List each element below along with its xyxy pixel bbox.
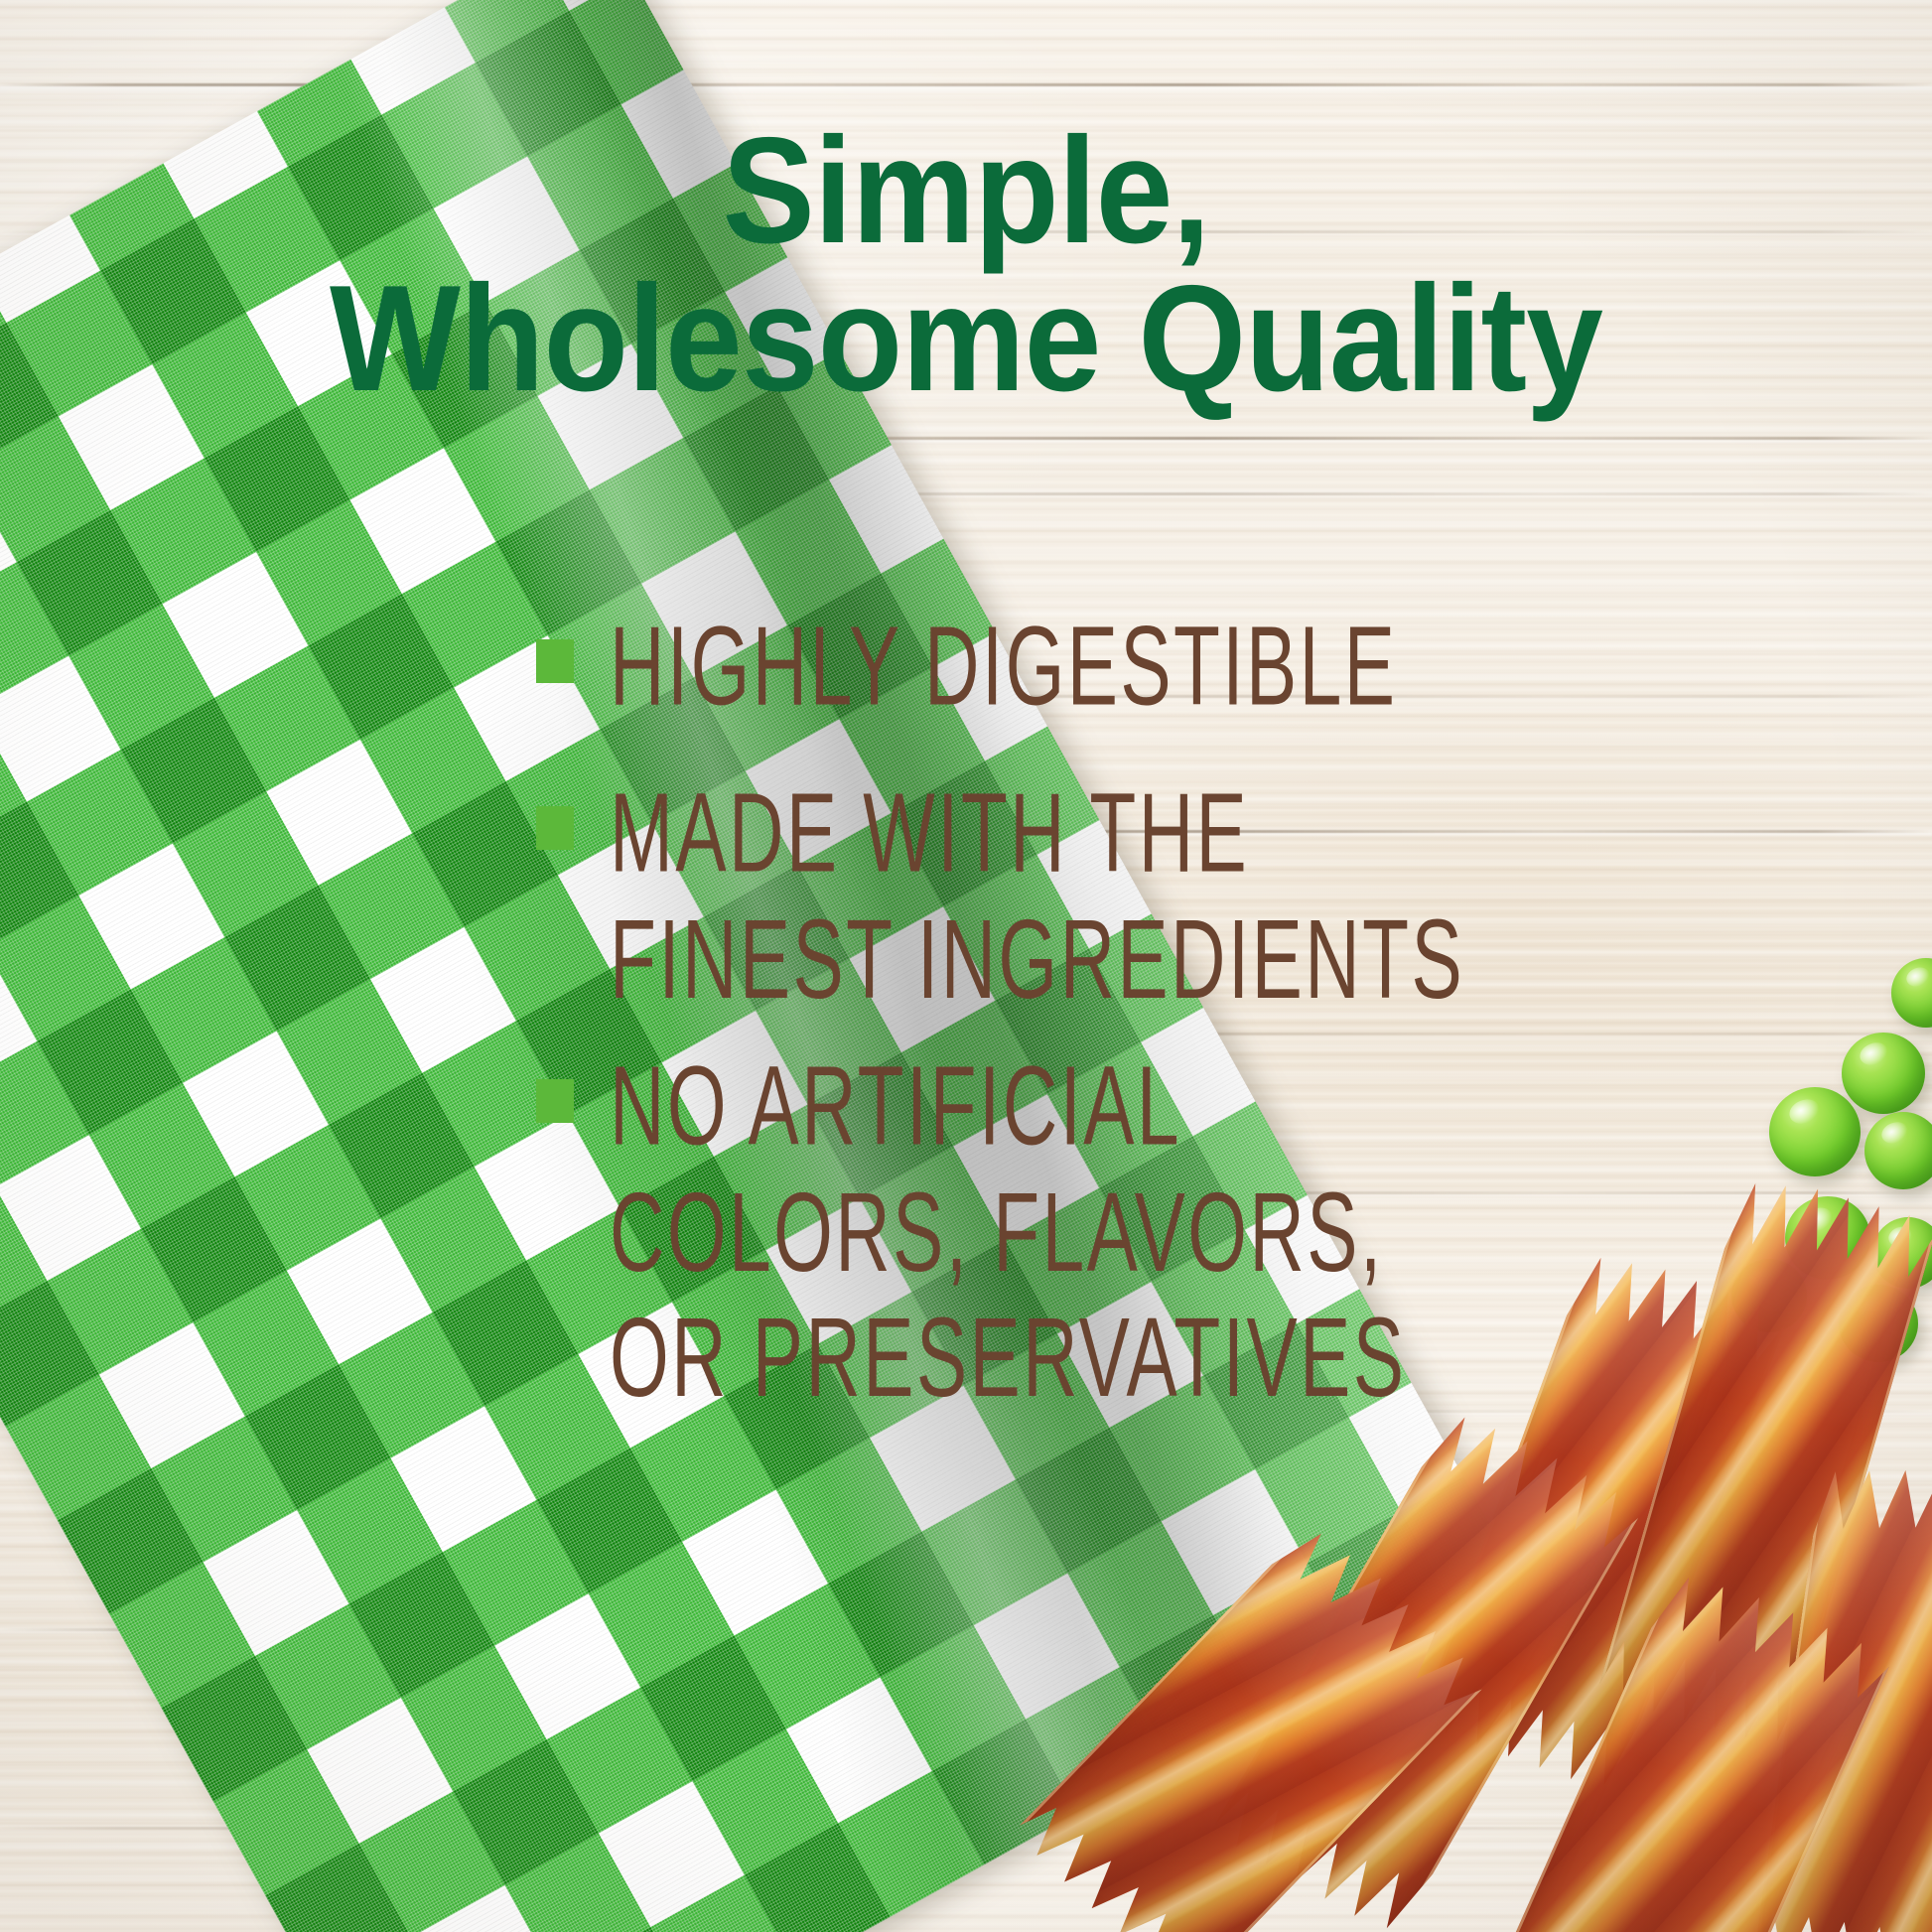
list-item-label: MADE WITH THE FINEST INGREDIENTS [610,770,1464,1023]
pea [1864,1112,1932,1189]
poster-canvas: Simple, Wholesome Quality HIGHLY DIGESTI… [0,0,1932,1932]
bullet-square-icon [536,806,574,850]
list-item-label: HIGHLY DIGESTIBLE [610,604,1397,730]
pea [1769,1087,1861,1176]
feature-list: HIGHLY DIGESTIBLE MADE WITH THE FINEST I… [536,604,1708,1423]
list-item-label: NO ARTIFICIAL COLORS, FLAVORS, OR PRESER… [610,1043,1406,1422]
list-item: HIGHLY DIGESTIBLE [536,604,1708,711]
list-item: NO ARTIFICIAL COLORS, FLAVORS, OR PRESER… [536,1043,1708,1364]
headline-line-1: Simple, [77,117,1855,265]
headline-line-2: Wholesome Quality [77,265,1855,413]
bullet-square-icon [536,1079,574,1123]
page-title: Simple, Wholesome Quality [77,117,1855,413]
list-item: MADE WITH THE FINEST INGREDIENTS [536,770,1708,984]
pea [1842,1033,1925,1114]
plank-seam [0,83,1932,86]
bullet-square-icon [536,639,574,683]
